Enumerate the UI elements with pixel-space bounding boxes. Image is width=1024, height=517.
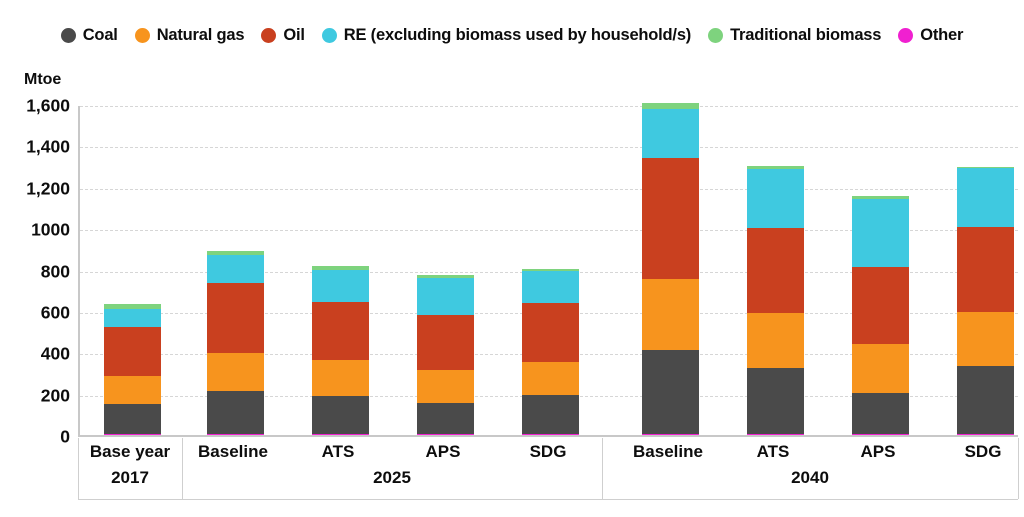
legend-item[interactable]: Traditional biomass bbox=[708, 26, 881, 45]
y-axis-tick-label: 800 bbox=[0, 261, 70, 282]
bar-segment bbox=[312, 434, 369, 435]
x-axis: Base yearBaselineATSAPSSDGBaselineATSAPS… bbox=[78, 438, 1018, 500]
bar-segment bbox=[312, 396, 369, 435]
bar-segment bbox=[207, 255, 264, 283]
bar-segment bbox=[417, 370, 474, 403]
legend-item-label: Traditional biomass bbox=[730, 26, 881, 45]
legend-item-label: Other bbox=[920, 26, 963, 45]
bar-segment bbox=[642, 109, 699, 159]
x-axis-group-separator bbox=[182, 438, 183, 499]
y-axis-unit-label: Mtoe bbox=[24, 71, 61, 89]
bar-segment bbox=[312, 302, 369, 360]
bar-segment bbox=[207, 391, 264, 434]
bar-segment bbox=[642, 279, 699, 349]
legend-dot-icon bbox=[261, 28, 276, 43]
stacked-bar[interactable] bbox=[417, 275, 474, 436]
bar-segment bbox=[957, 227, 1014, 313]
bar-segment bbox=[642, 158, 699, 279]
stacked-bar[interactable] bbox=[642, 103, 699, 435]
x-axis-group-separator bbox=[78, 438, 79, 499]
legend-item-label: RE (excluding biomass used by household/… bbox=[344, 26, 691, 45]
bar-segment bbox=[104, 404, 161, 434]
bar-segment bbox=[747, 313, 804, 368]
y-axis-tick-label: 400 bbox=[0, 344, 70, 365]
legend-item-label: Oil bbox=[283, 26, 304, 45]
bar-segment bbox=[852, 344, 909, 393]
y-axis-tick-label: 1000 bbox=[0, 220, 70, 241]
bar-segment bbox=[522, 434, 579, 435]
stacked-bar[interactable] bbox=[957, 167, 1014, 435]
bar-segment bbox=[417, 434, 474, 435]
y-axis-tick-label: 1,600 bbox=[0, 96, 70, 117]
x-axis-group-label: 2017 bbox=[111, 468, 149, 488]
legend-dot-icon bbox=[708, 28, 723, 43]
stacked-bar[interactable] bbox=[312, 266, 369, 435]
legend-dot-icon bbox=[898, 28, 913, 43]
legend-item[interactable]: RE (excluding biomass used by household/… bbox=[322, 26, 691, 45]
bar-segment bbox=[207, 434, 264, 435]
legend-item[interactable]: Coal bbox=[61, 26, 118, 45]
x-axis-scenario-label: ATS bbox=[757, 442, 790, 462]
bar-segment bbox=[104, 309, 161, 327]
bar-segment bbox=[642, 434, 699, 435]
x-axis-group-label: 2025 bbox=[373, 468, 411, 488]
x-axis-group-separator bbox=[1018, 438, 1019, 499]
bar-segment bbox=[207, 283, 264, 353]
plot-area bbox=[78, 106, 1018, 437]
y-axis-tick-label: 0 bbox=[0, 427, 70, 448]
bar-segment bbox=[957, 434, 1014, 435]
plot-wrapper bbox=[78, 106, 1018, 437]
stacked-bar[interactable] bbox=[747, 166, 804, 435]
bar-segment bbox=[312, 360, 369, 395]
y-axis-tick-label: 200 bbox=[0, 385, 70, 406]
bar-segment bbox=[642, 350, 699, 435]
y-axis-tick-label: 1,400 bbox=[0, 137, 70, 158]
stacked-bar[interactable] bbox=[207, 251, 264, 435]
chart-legend: CoalNatural gasOilRE (excluding biomass … bbox=[0, 26, 1024, 45]
bar-segment bbox=[747, 368, 804, 435]
bar-segment bbox=[957, 312, 1014, 366]
bar-segment bbox=[104, 434, 161, 435]
x-axis-scenario-label: APS bbox=[861, 442, 896, 462]
bar-segment bbox=[312, 270, 369, 302]
x-axis-scenario-label: SDG bbox=[965, 442, 1002, 462]
bar-segment bbox=[104, 376, 161, 404]
bar-segment bbox=[852, 434, 909, 435]
x-axis-scenario-label: SDG bbox=[530, 442, 567, 462]
bar-segment bbox=[417, 315, 474, 370]
x-axis-scenario-label: APS bbox=[426, 442, 461, 462]
stacked-bar[interactable] bbox=[522, 269, 579, 435]
bar-series-container bbox=[80, 106, 1018, 435]
bar-segment bbox=[852, 393, 909, 434]
legend-item[interactable]: Natural gas bbox=[135, 26, 245, 45]
x-axis-group-separator bbox=[602, 438, 603, 499]
x-axis-scenario-label: Baseline bbox=[198, 442, 268, 462]
y-axis-tick-label: 600 bbox=[0, 302, 70, 323]
legend-item-label: Coal bbox=[83, 26, 118, 45]
bar-segment bbox=[747, 228, 804, 313]
bar-segment bbox=[522, 271, 579, 303]
bar-segment bbox=[747, 434, 804, 435]
x-axis-scenario-label: ATS bbox=[322, 442, 355, 462]
legend-dot-icon bbox=[61, 28, 76, 43]
legend-item[interactable]: Oil bbox=[261, 26, 304, 45]
bar-segment bbox=[104, 327, 161, 377]
bar-segment bbox=[522, 362, 579, 395]
stacked-bar[interactable] bbox=[852, 196, 909, 435]
legend-item[interactable]: Other bbox=[898, 26, 963, 45]
legend-dot-icon bbox=[135, 28, 150, 43]
x-axis-scenario-label: Base year bbox=[90, 442, 170, 462]
bar-segment bbox=[852, 199, 909, 267]
stacked-bar[interactable] bbox=[104, 304, 161, 435]
bar-segment bbox=[852, 267, 909, 345]
bar-segment bbox=[522, 395, 579, 434]
bar-segment bbox=[522, 303, 579, 362]
legend-item-label: Natural gas bbox=[157, 26, 245, 45]
bar-segment bbox=[957, 366, 1014, 434]
bar-segment bbox=[207, 353, 264, 391]
x-axis-scenario-label: Baseline bbox=[633, 442, 703, 462]
bar-segment bbox=[417, 403, 474, 434]
x-axis-group-label: 2040 bbox=[791, 468, 829, 488]
bar-segment bbox=[747, 169, 804, 228]
bar-segment bbox=[417, 278, 474, 315]
bar-segment bbox=[957, 168, 1014, 227]
legend-dot-icon bbox=[322, 28, 337, 43]
y-axis-tick-label: 1,200 bbox=[0, 178, 70, 199]
